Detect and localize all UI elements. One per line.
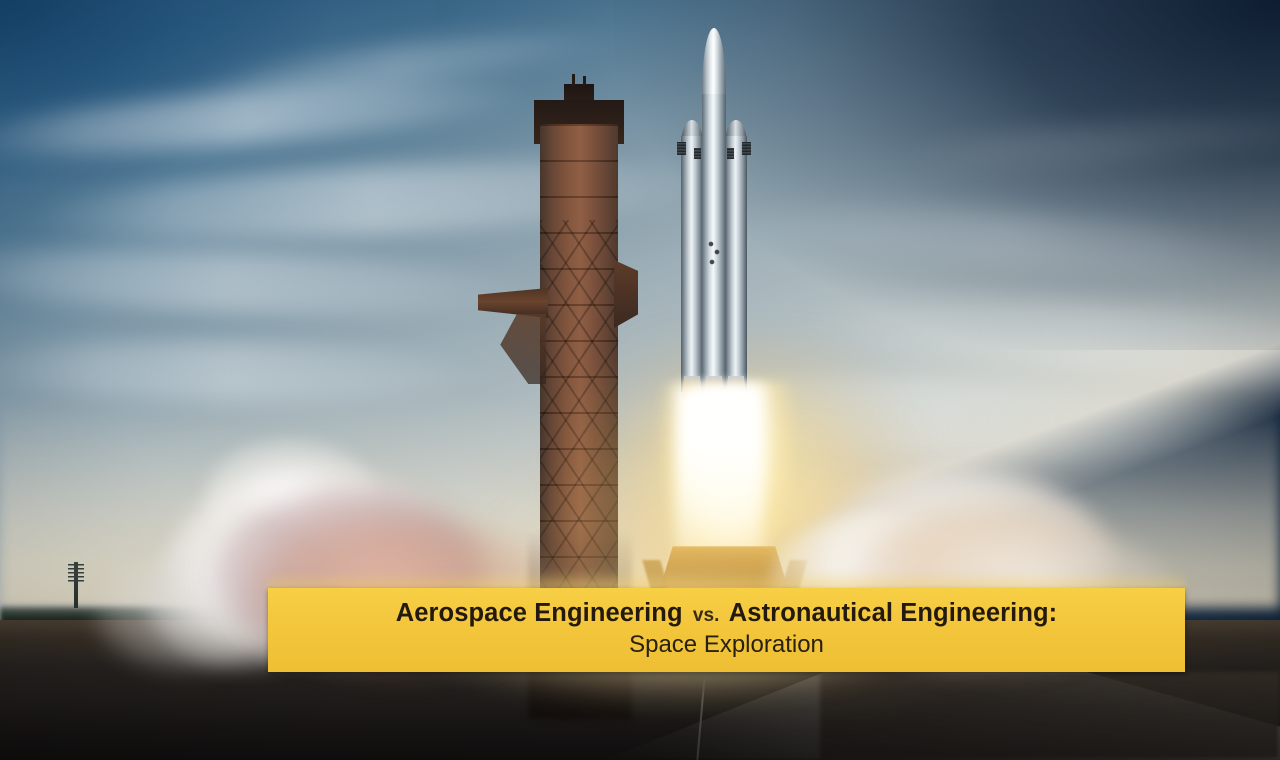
- rocket-nose-cone: [702, 28, 726, 102]
- title-banner: Aerospace Engineering vs. Astronautical …: [268, 588, 1185, 672]
- booster-left: [681, 136, 703, 392]
- tower-right-arm: [614, 260, 638, 328]
- grid-fin-icon: [694, 148, 701, 159]
- rocket-hull-markings: [708, 240, 720, 272]
- banner-title-part2: Astronautical Engineering:: [729, 599, 1057, 627]
- grid-fin-icon: [727, 148, 734, 159]
- grid-fin-icon: [677, 142, 686, 155]
- rocket: [676, 28, 752, 428]
- screenshot-canvas: Aerospace Engineering vs. Astronautical …: [0, 0, 1280, 760]
- booster-right: [725, 136, 747, 392]
- banner-title-part1: Aerospace Engineering: [396, 599, 683, 627]
- lightning-tower-icon: [74, 562, 78, 608]
- banner-title-line1: Aerospace Engineering vs. Astronautical …: [396, 599, 1058, 628]
- banner-subtitle: Space Exploration: [629, 631, 824, 660]
- grid-fin-icon: [742, 142, 751, 155]
- banner-title-vs: vs.: [690, 605, 723, 626]
